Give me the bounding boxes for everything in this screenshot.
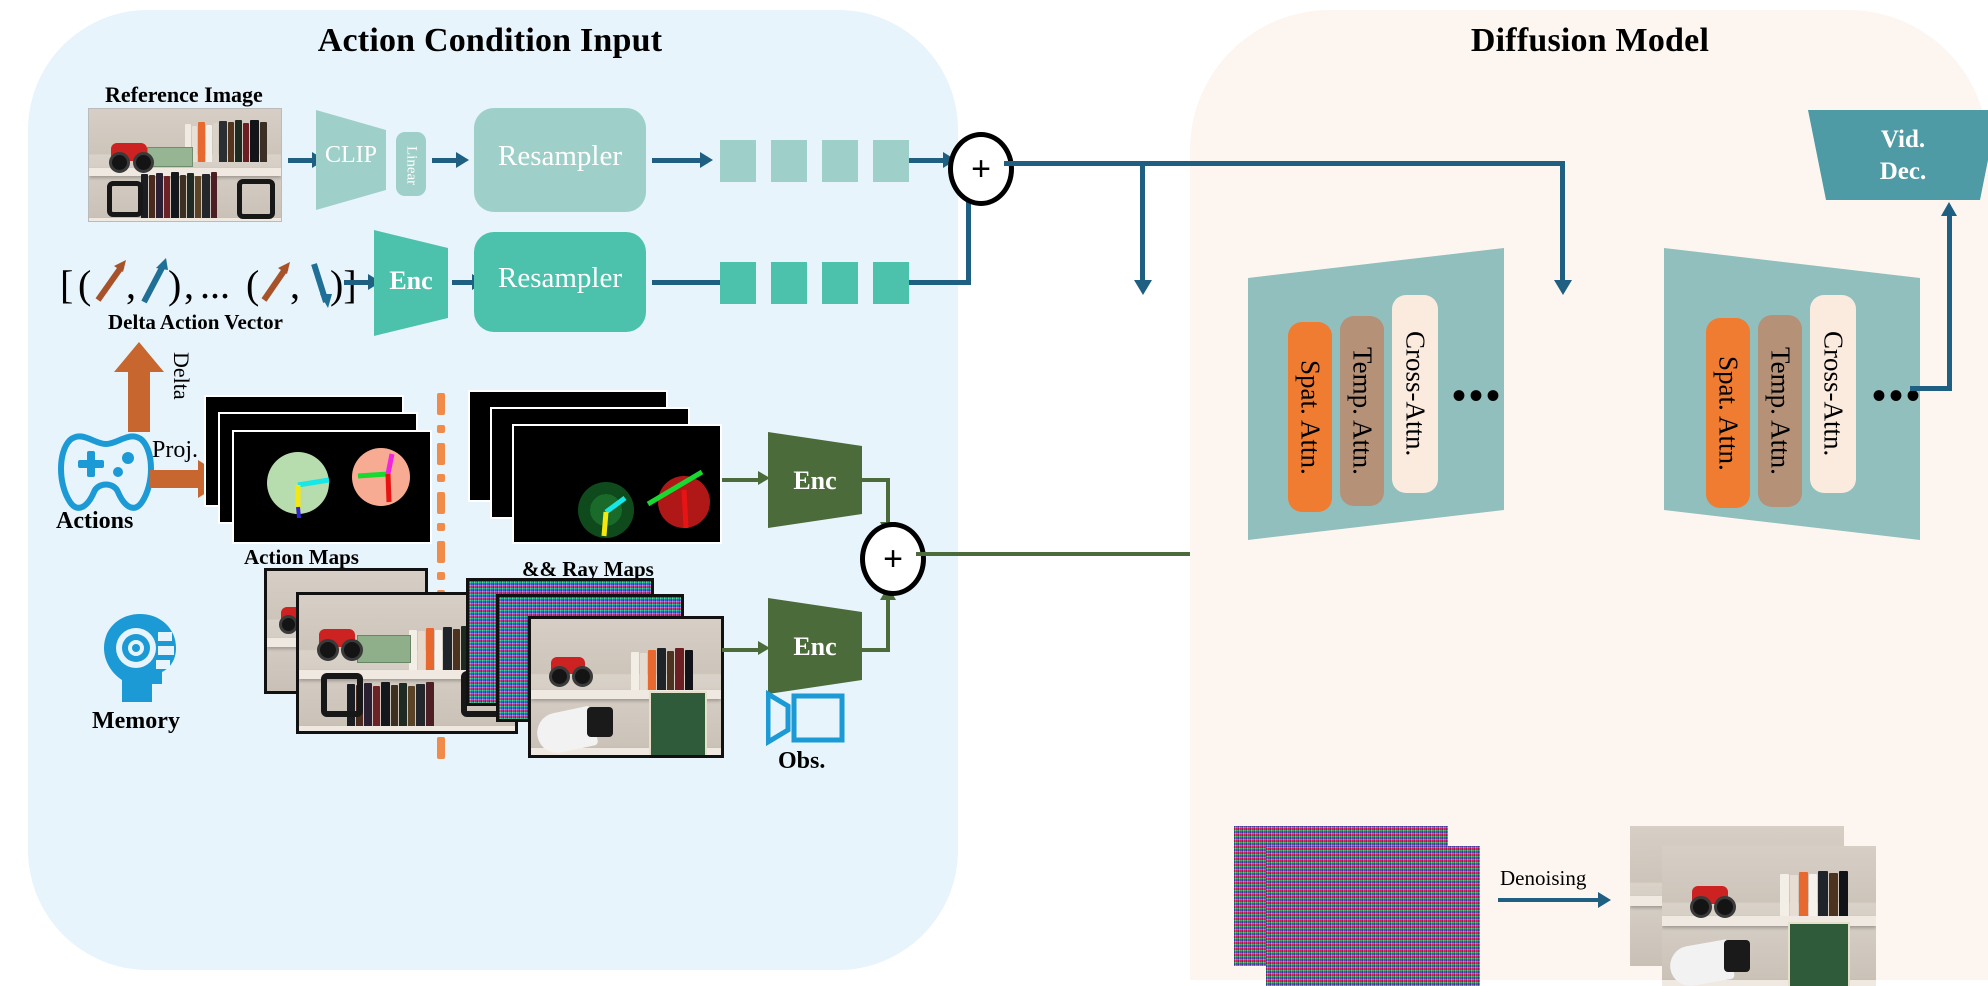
arrow-image-tokens-to-sum: [909, 158, 945, 163]
svg-text:,: ,: [184, 262, 194, 307]
path-unet-to-viddec-horizontal: [1910, 386, 1952, 391]
unet-down-ellipsis: •••: [1452, 372, 1503, 419]
action-token-1: [720, 262, 756, 304]
arrow-obs-to-enc: [722, 648, 760, 652]
delta-action-vector-caption: Delta Action Vector: [108, 310, 283, 335]
gamepad-icon: [50, 428, 162, 514]
separator-dash-4: [437, 474, 445, 482]
unet-down-spat-attn: Spat. Attn.: [1288, 322, 1332, 512]
reference-image-label: Reference Image: [105, 82, 263, 108]
action-maps-label: Action Maps: [244, 545, 359, 570]
delta-orange-arrow: [112, 342, 166, 432]
unet-up-cross-attn: Cross-Attn.: [1810, 295, 1856, 493]
actions-label: Actions: [56, 508, 133, 535]
arrow-resampler2-to-action-tokens: [652, 280, 720, 285]
denoising-arrow-line: [1498, 898, 1602, 902]
path-unet-to-viddec-head: [1941, 202, 1957, 216]
memory-brain-icon: [96, 610, 184, 706]
linear-label: Linear: [396, 136, 426, 196]
obs-enc-label: Enc: [768, 632, 862, 662]
blue-bus-horizontal: [1004, 161, 1564, 166]
action-map-right-axes: [348, 444, 420, 516]
unet-up-spat-attn: Spat. Attn.: [1706, 318, 1750, 508]
path-green-sum-right: [916, 552, 1208, 556]
path-enc-ray-down: [886, 478, 890, 526]
green-sum-node: +: [860, 522, 926, 596]
arrow-resampler-to-image-tokens-head: [700, 152, 713, 168]
separator-dash-2: [437, 425, 445, 433]
blue-drop-down-block: [1140, 161, 1145, 283]
denoise-input-front: [1266, 846, 1480, 986]
ray-map-left-axes: [578, 482, 638, 542]
separator-dash-3: [437, 443, 445, 465]
unet-down-temp-attn: Temp. Attn.: [1340, 316, 1384, 506]
svg-text:...: ...: [200, 262, 230, 307]
svg-text:(: (: [246, 262, 259, 307]
svg-text:,: ,: [126, 262, 136, 307]
clip-label: CLIP: [316, 142, 386, 169]
resampler-image-label: Resampler: [474, 140, 646, 173]
arrow-resampler-to-image-tokens: [652, 158, 702, 163]
blue-drop-up-block-head: [1554, 280, 1572, 295]
memory-label: Memory: [92, 708, 180, 735]
unet-up-temp-attn: Temp. Attn.: [1758, 315, 1802, 507]
denoising-label: Denoising: [1500, 866, 1586, 891]
image-token-1: [720, 140, 756, 182]
video-decoder-line1: Vid.: [1808, 126, 1988, 154]
denoising-arrow-head: [1598, 892, 1611, 908]
svg-text:,: ,: [290, 262, 300, 307]
unet-up-temp-attn-label: Temp. Attn.: [1765, 347, 1796, 475]
separator-dash-7: [437, 541, 445, 563]
arrow-linear-to-resampler: [432, 158, 458, 163]
image-token-4: [873, 140, 909, 182]
image-token-3: [822, 140, 858, 182]
blue-sum-node: +: [948, 132, 1014, 206]
separator-dash-8: [437, 572, 445, 580]
action-enc-label: Enc: [374, 266, 448, 296]
green-sum-symbol: +: [883, 542, 903, 576]
unet-up-cross-attn-label: Cross-Attn.: [1818, 331, 1849, 456]
separator-dash-5: [437, 492, 445, 514]
obs-label: Obs.: [778, 748, 825, 775]
action-map-left-axes: [267, 452, 337, 522]
camera-obs-icon: [766, 690, 852, 746]
right-panel-title: Diffusion Model: [1290, 22, 1890, 60]
unet-up-ellipsis: •••: [1872, 372, 1923, 419]
left-panel-title: Action Condition Input: [180, 22, 800, 60]
arrow-ref-to-clip: [288, 158, 314, 163]
resampler-action-label: Resampler: [474, 262, 646, 295]
arrow-vector-to-enc: [344, 280, 370, 285]
blue-drop-up-block: [1560, 161, 1565, 283]
path-enc-obs-up: [886, 600, 890, 650]
svg-text:(: (: [78, 262, 91, 307]
delta-arrow-label: Delta: [168, 352, 194, 400]
video-decoder-shape: [1808, 110, 1988, 200]
denoise-output-front: [1662, 846, 1876, 986]
separator-dash-6: [437, 523, 445, 531]
svg-text:[: [: [60, 262, 73, 307]
image-token-2: [771, 140, 807, 182]
action-token-2: [771, 262, 807, 304]
blue-drop-down-block-head: [1134, 280, 1152, 295]
blue-sum-symbol: +: [971, 152, 991, 186]
separator-dash-1: [437, 393, 445, 415]
path-action-tokens-up: [966, 196, 971, 284]
unet-down-spat-attn-label: Spat. Attn.: [1295, 360, 1326, 475]
ray-map-enc-label: Enc: [768, 466, 862, 496]
unet-down-cross-attn: Cross-Attn.: [1392, 295, 1438, 493]
path-unet-to-viddec-vertical: [1947, 216, 1952, 390]
noisy-obs-front: [528, 616, 724, 758]
svg-text:): ): [168, 262, 181, 307]
unet-down-cross-attn-label: Cross-Attn.: [1400, 331, 1431, 456]
separator-dash-15: [437, 737, 445, 759]
arrow-linear-to-resampler-head: [456, 152, 469, 168]
unet-down-temp-attn-label: Temp. Attn.: [1347, 347, 1378, 475]
arrow-raymaps-to-enc: [722, 478, 760, 482]
video-decoder-line2: Dec.: [1808, 158, 1988, 186]
arrow-enc-to-resampler2: [452, 280, 474, 285]
reference-image-photo: [88, 108, 282, 222]
ray-map-right-axes: [640, 466, 732, 542]
action-token-4: [873, 262, 909, 304]
path-action-tokens-right: [909, 280, 971, 285]
action-token-3: [822, 262, 858, 304]
unet-up-spat-attn-label: Spat. Attn.: [1713, 356, 1744, 471]
